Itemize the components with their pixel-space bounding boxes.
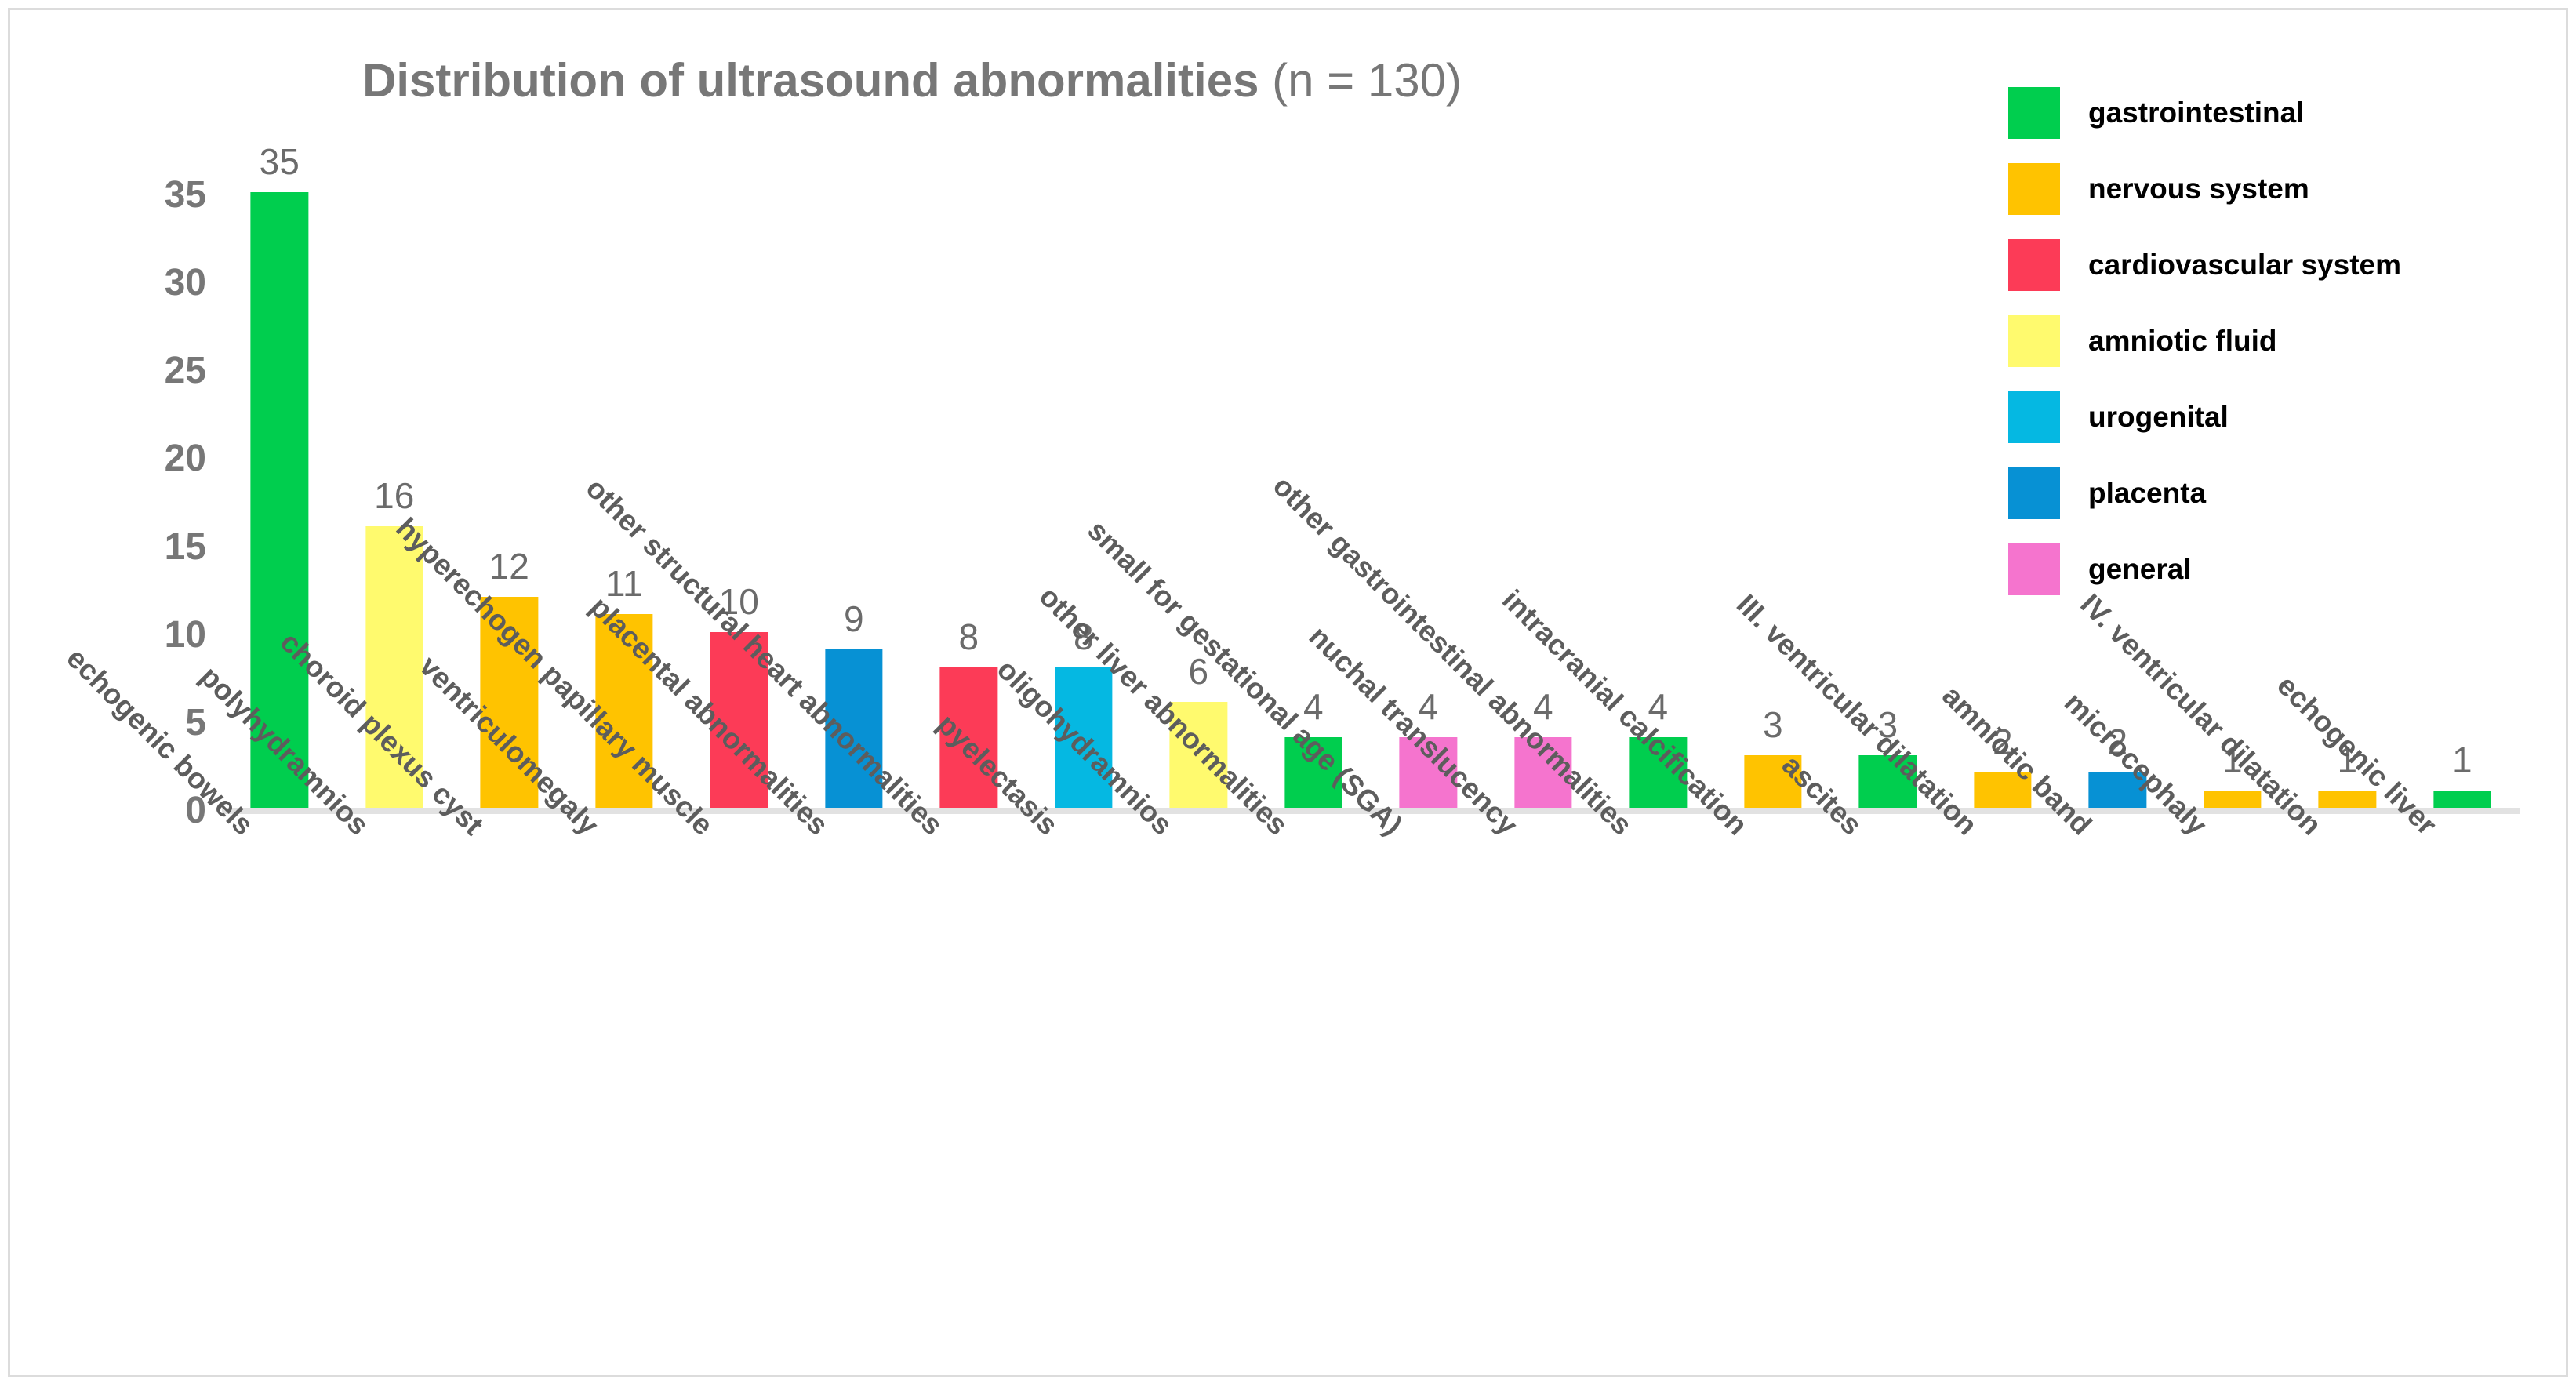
bar-value-label: 3 <box>1763 707 1783 743</box>
bar-value-label: 16 <box>374 478 414 514</box>
y-axis-tick-label: 5 <box>185 704 206 742</box>
bar-group: 3 <box>1716 157 1831 808</box>
bar-value-label: 35 <box>260 144 300 180</box>
bar[interactable] <box>2319 791 2376 808</box>
y-axis-tick-label: 10 <box>165 616 206 654</box>
y-axis-tick-label: 30 <box>165 264 206 302</box>
chart-title-main: Distribution of ultrasound abnormalities <box>362 54 1272 107</box>
x-axis-labels: echogenic bowelspolyhydramnioschoroid pl… <box>222 820 2520 1361</box>
bar[interactable] <box>2433 791 2491 808</box>
chart-card: Distribution of ultrasound abnormalities… <box>8 8 2568 1377</box>
page-title: Distribution of ultrasound abnormalities… <box>10 57 1814 104</box>
chart-title-sample-size: (n = 130) <box>1272 54 1462 107</box>
bar-group: 8 <box>911 157 1026 808</box>
y-axis-tick-label: 15 <box>165 529 206 566</box>
legend-swatch-icon <box>2008 87 2060 139</box>
y-axis-tick-label: 20 <box>165 440 206 478</box>
bar-group: 1 <box>2405 157 2520 808</box>
bar[interactable] <box>2204 791 2261 808</box>
bar-value-label: 12 <box>489 548 529 584</box>
plot-area: 3516121110988644443322111 <box>222 163 2520 814</box>
bar-value-label: 9 <box>844 601 864 637</box>
bar-value-label: 1 <box>2452 742 2472 778</box>
y-axis-tick-label: 35 <box>165 176 206 214</box>
legend-item-gastrointestinal[interactable]: gastrointestinal <box>2008 75 2526 151</box>
legend-item-label: gastrointestinal <box>2088 98 2305 127</box>
y-axis-tick-label: 25 <box>165 352 206 390</box>
bar-value-label: 8 <box>958 619 979 655</box>
